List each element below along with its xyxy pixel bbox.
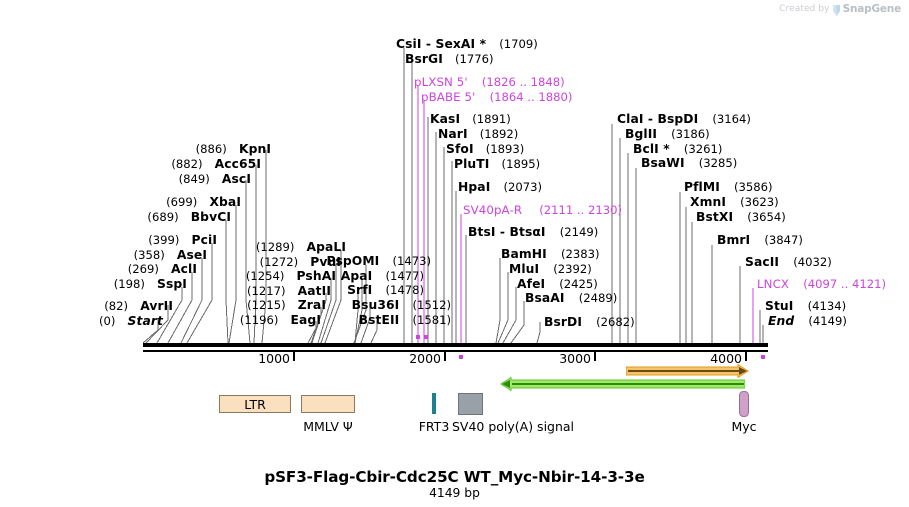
enzyme-label-bamhi[interactable]: BamHI (2383) [501,245,600,261]
feature-label-start[interactable]: (0) Start [99,312,163,328]
enzyme-name: BglII [625,127,657,141]
ruler-tick-label-1000: 1000 [258,351,290,366]
enzyme-label-mlui[interactable]: MluI (2392) [509,260,592,276]
enzyme-position: (1892) [480,127,519,141]
enzyme-position: (1891) [472,112,511,126]
enzyme-position: (2383) [561,247,600,261]
feature-label-ltr: LTR [220,396,290,414]
plasmid-length: 4149 bp [0,486,909,500]
enzyme-label-sacii[interactable]: SacII (4032) [745,253,832,269]
enzyme-position: (399) [148,233,179,247]
enzyme-name: ZraI [298,298,326,312]
enzyme-label-clai-bspdi[interactable]: ClaI - BspDI (3164) [617,110,751,126]
enzyme-position: (3654) [747,210,786,224]
feature-label-sv40-polya: SV40 poly(A) signal [452,419,574,434]
enzyme-name: PshAI [297,269,336,283]
ruler-backbone-line [143,343,768,347]
enzyme-name: EagI [291,313,321,327]
enzyme-name: AclI [171,262,197,276]
enzyme-name: NarI [438,127,468,141]
enzyme-label-bsaai[interactable]: BsaAI (2489) [525,289,617,305]
primer-label-sv40pa-r[interactable]: SV40pA-R (2111 .. 2130) [463,201,622,217]
enzyme-position: (1709) [499,37,538,51]
primer-position: (1826 .. 1848) [482,75,565,89]
enzyme-label-sspi[interactable]: (198) SspI [114,275,187,291]
enzyme-name: Bsu36I [352,298,400,312]
feature-box-sv40-polya[interactable] [458,393,483,415]
plasmid-map-canvas: Created by SnapGene [0,0,909,507]
feature-label-mmlv-psi: MMLV Ψ [303,419,353,434]
enzyme-position: (1512) [412,298,451,312]
enzyme-name: SspI [157,277,187,291]
enzyme-label-asci[interactable]: (849) AscI [179,170,251,186]
ruler-baseline [143,350,768,352]
enzyme-position: (4134) [808,299,847,313]
primer-position: (4097 .. 4121) [803,277,886,291]
enzyme-label-acc65i[interactable]: (882) Acc65I [171,155,261,171]
enzyme-name: PciI [192,233,218,247]
enzyme-position: (2682) [596,315,635,329]
ruler-tick-label-2000: 2000 [409,351,441,366]
feature-box-myc[interactable] [739,391,749,417]
enzyme-name: BsaAI [525,291,565,305]
enzyme-name: SrfI [347,283,372,297]
enzyme-label-btsi-btsai[interactable]: BtsI - BtsαI (2149) [468,223,598,239]
enzyme-position: (2489) [579,291,618,305]
enzyme-label-xbai[interactable]: (699) XbaI [166,193,241,209]
enzyme-label-srfi[interactable]: SrfI (1478) [347,281,424,297]
enzyme-name: SfoI [446,142,474,156]
enzyme-position: (3623) [740,195,779,209]
primer-name: LNCX [757,277,789,291]
snapgene-logo-icon [833,5,840,16]
enzyme-position: (1581) [412,313,451,327]
feature-box-mmlv-psi[interactable] [301,395,355,413]
enzyme-label-acli[interactable]: (269) AclI [128,260,197,276]
enzyme-position: (849) [179,172,210,186]
enzyme-position: (886) [196,142,227,156]
watermark-text: Created by [779,4,830,14]
enzyme-name: BbvCI [191,210,231,224]
enzyme-label-bbvci[interactable]: (689) BbvCI [147,208,231,224]
plasmid-title: pSF3-Flag-Cbir-Cdc25C WT_Myc-Nbir-14-3-3… [0,468,909,486]
enzyme-name: MluI [509,262,539,276]
enzyme-position: (3285) [699,156,738,170]
feature-label-end[interactable]: End (4149) [768,312,847,328]
feature-name: Start [128,314,163,328]
enzyme-label-bsawi[interactable]: BsaWI (3285) [641,154,737,170]
ruler-tick-1000 [293,352,295,361]
enzyme-name: CsiI - SexAI * [396,37,486,51]
enzyme-label-eagi[interactable]: (1196) EagI [240,311,321,327]
enzyme-position: (2392) [553,262,592,276]
primer-label-plxsn-5[interactable]: pLXSN 5' (1826 .. 1848) [414,73,565,89]
enzyme-label-pspomi[interactable]: PspOMI (1473) [327,252,431,268]
enzyme-name: BsaWI [641,156,685,170]
enzyme-position: (269) [128,262,159,276]
enzyme-position: (1895) [502,157,541,171]
primer-mark-sv40pa-r [459,355,463,359]
enzyme-name: XbaI [209,195,241,209]
enzyme-label-csii-sexai[interactable]: CsiI - SexAI * (1709) [396,35,538,51]
enzyme-position: (3586) [734,180,773,194]
enzyme-position: (689) [147,210,178,224]
snapgene-watermark: Created by SnapGene [779,3,901,15]
enzyme-position: (1478) [385,283,424,297]
enzyme-position: (1776) [455,52,494,66]
ruler-tick-2000 [444,352,446,361]
enzyme-name: BsrDI [544,315,582,329]
enzyme-name: HpaI [458,180,490,194]
enzyme-position: (3186) [671,127,710,141]
ruler-tick-4000 [745,352,747,361]
enzyme-name: KasI [430,112,460,126]
enzyme-position: (1289) [256,240,295,254]
feature-name: End [768,314,794,328]
green-feature-arrow[interactable] [500,377,745,391]
primer-name: SV40pA-R [463,203,522,217]
primer-mark-lncx [761,355,765,359]
enzyme-position: (3164) [712,112,751,126]
feature-position: (4149) [808,314,847,328]
enzyme-name: KpnI [239,142,271,156]
primer-mark-plxsn [416,335,420,339]
enzyme-name: XmnI [690,195,726,209]
primer-label-pbabe-5[interactable]: pBABE 5' (1864 .. 1880) [421,88,572,104]
enzyme-position: (882) [171,157,202,171]
primer-name: pBABE 5' [421,90,476,104]
primer-position: (2111 .. 2130) [539,203,622,217]
enzyme-position: (1196) [240,313,279,327]
enzyme-name: BstEII [359,313,400,327]
enzyme-name: PluTI [454,157,489,171]
ruler-tick-label-3000: 3000 [559,351,591,366]
enzyme-position: (2073) [503,180,542,194]
enzyme-label-bsteii[interactable]: BstEII (1581) [359,311,451,327]
enzyme-label-sfoi[interactable]: SfoI (1893) [446,140,524,156]
enzyme-label-pluti[interactable]: PluTI (1895) [454,155,540,171]
feature-mark-frt3[interactable] [432,393,436,414]
enzyme-position: (2149) [560,225,599,239]
enzyme-name: BstXI [696,210,733,224]
enzyme-label-bmri[interactable]: BmrI (3847) [717,231,803,247]
feature-box-ltr[interactable]: LTR [219,395,291,413]
enzyme-name: SacII [745,255,779,269]
enzyme-position: (1254) [246,269,285,283]
ruler-tick-3000 [594,352,596,361]
primer-mark-pbabe [424,335,428,339]
enzyme-name: BtsI - BtsαI [468,225,546,239]
feature-label-frt3: FRT3 [419,419,450,434]
enzyme-name: AvrII [140,299,173,313]
primer-label-lncx[interactable]: LNCX (4097 .. 4121) [757,275,886,291]
enzyme-name: AscI [222,172,251,186]
orange-feature-arrow[interactable] [626,364,749,378]
enzyme-name: PflMI [684,180,720,194]
enzyme-label-pcii[interactable]: (399) PciI [148,231,217,247]
enzyme-label-bsrdi[interactable]: BsrDI (2682) [544,313,635,329]
enzyme-position: (4032) [793,255,832,269]
enzyme-label-stui[interactable]: StuI (4134) [765,297,846,313]
primer-position: (1864 .. 1880) [490,90,573,104]
enzyme-label-hpai[interactable]: HpaI (2073) [458,178,542,194]
enzyme-position: (3847) [764,233,803,247]
enzyme-label-zrai[interactable]: (1215) ZraI [247,296,326,312]
enzyme-name: BsrGI [405,52,443,66]
watermark-brand: SnapGene [843,3,901,15]
enzyme-name: Acc65I [215,157,261,171]
feature-label-myc: Myc [731,419,756,434]
enzyme-label-bglii[interactable]: BglII (3186) [625,125,710,141]
primer-name: pLXSN 5' [414,75,468,89]
enzyme-position: (1473) [392,254,431,268]
enzyme-label-bstxi[interactable]: BstXI (3654) [696,208,786,224]
enzyme-name: StuI [765,299,793,313]
feature-position: (0) [99,314,115,328]
enzyme-position: (198) [114,277,145,291]
enzyme-label-bsrgi[interactable]: BsrGI (1776) [405,50,494,66]
enzyme-name: BmrI [717,233,750,247]
